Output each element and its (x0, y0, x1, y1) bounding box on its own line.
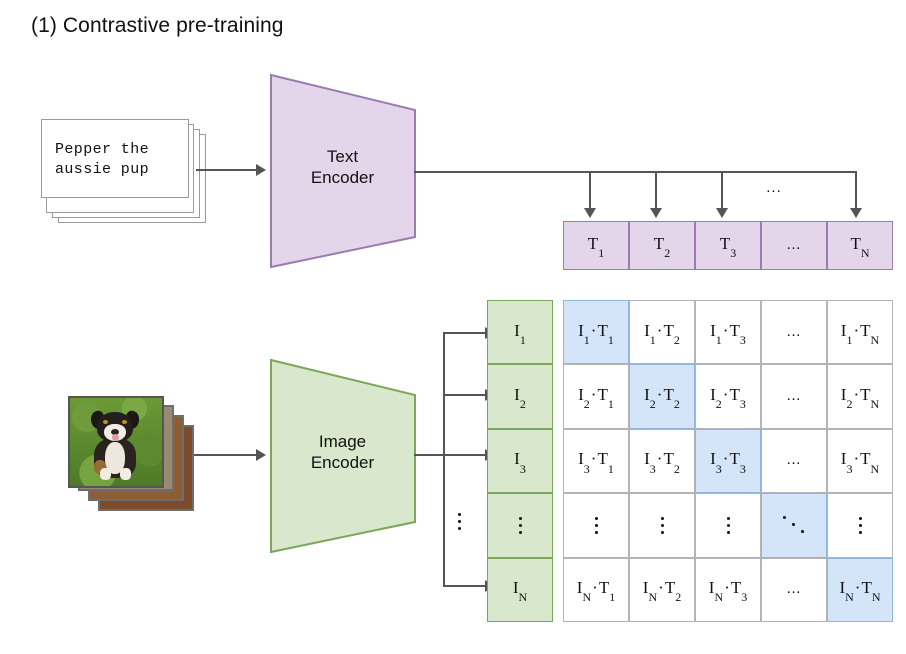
cell-label: I2 (514, 385, 526, 408)
image-embedding-cell-1[interactable]: I1 (487, 300, 553, 364)
matrix-cell-rN-cN[interactable]: IN·TN (827, 558, 893, 622)
image-encoder-block: Image Encoder (269, 357, 416, 555)
text-bus-drop-3 (721, 171, 723, 209)
image-embedding-cell-2[interactable]: I2 (487, 364, 553, 428)
image-encoder-label-line1: Image (269, 431, 416, 452)
image-embedding-cell-ellipsis[interactable] (487, 493, 553, 557)
diagram-canvas: (1) Contrastive pre-training Pepper the … (0, 0, 906, 654)
image-bus-stem (414, 454, 445, 456)
matrix-cell-r1-c2[interactable]: I1·T2 (629, 300, 695, 364)
image-embedding-cell-n[interactable]: IN (487, 558, 553, 622)
cell-label: I1·T2 (644, 321, 680, 344)
cell-label: I1·TN (841, 321, 879, 344)
matrix-cell-rvdots-c3[interactable] (695, 493, 761, 557)
matrix-cell-rvdots-c2[interactable] (629, 493, 695, 557)
cell-label: IN·TN (839, 578, 880, 601)
text-embedding-cell-n[interactable]: TN (827, 221, 893, 270)
matrix-cell-rvdots-cN[interactable] (827, 493, 893, 557)
cell-label: T3 (720, 234, 736, 257)
cell-label: I1 (514, 321, 526, 344)
cell-ellipsis: ... (787, 324, 801, 341)
arrow-image-to-image-encoder-line (194, 454, 258, 456)
matrix-cell-r3-c1[interactable]: I3·T1 (563, 429, 629, 493)
diagonal-ellipsis (781, 514, 807, 536)
text-embedding-cell-3[interactable]: T3 (695, 221, 761, 270)
matrix-cell-r3-c3[interactable]: I3·T3 (695, 429, 761, 493)
text-bus-trunk (414, 171, 857, 173)
text-bus-drop-n (855, 171, 857, 209)
cell-label: I2·T3 (710, 385, 746, 408)
matrix-cell-rN-c1[interactable]: IN·T1 (563, 558, 629, 622)
cell-label: I2·T2 (644, 385, 680, 408)
matrix-cell-r1-c...[interactable]: ... (761, 300, 827, 364)
vertical-ellipsis (657, 515, 667, 535)
image-bus-branch-2 (443, 394, 487, 396)
matrix-cell-rvdots-c1[interactable] (563, 493, 629, 557)
matrix-cell-r2-c3[interactable]: I2·T3 (695, 364, 761, 428)
text-bus-ellipsis: ... (754, 179, 794, 196)
cell-label: TN (850, 234, 869, 257)
matrix-cell-r1-c1[interactable]: I1·T1 (563, 300, 629, 364)
cell-ellipsis: ... (787, 237, 801, 254)
matrix-cell-rN-c2[interactable]: IN·T2 (629, 558, 695, 622)
text-encoder-label-line2: Encoder (269, 167, 416, 188)
text-encoder-block: Text Encoder (269, 72, 416, 270)
cell-label: T1 (588, 234, 604, 257)
page-title: (1) Contrastive pre-training (31, 14, 284, 38)
text-bus-arrow-n (850, 208, 862, 218)
vertical-ellipsis (515, 515, 525, 535)
cell-label: IN·T2 (643, 578, 681, 601)
image-bus-branch-n (443, 585, 487, 587)
text-embedding-cell-ellipsis[interactable]: ... (761, 221, 827, 270)
matrix-cell-r3-c...[interactable]: ... (761, 429, 827, 493)
dog-eye-left (103, 420, 108, 424)
arrow-caption-to-text-encoder-line (196, 169, 258, 171)
cell-ellipsis: ... (787, 581, 801, 598)
cell-label: I1·T3 (710, 321, 746, 344)
image-bus-branch-3 (443, 454, 487, 456)
text-bus-arrow-3 (716, 208, 728, 218)
image-encoder-label: Image Encoder (269, 431, 416, 473)
cell-label: I3·T3 (710, 449, 746, 472)
caption-line-1: Pepper the (55, 140, 187, 160)
text-encoder-label-line1: Text (269, 146, 416, 167)
text-embedding-cell-1[interactable]: T1 (563, 221, 629, 270)
arrow-caption-to-text-encoder-head (256, 164, 266, 176)
cell-label: IN (513, 578, 527, 601)
matrix-cell-rN-c...[interactable]: ... (761, 558, 827, 622)
text-embedding-cell-2[interactable]: T2 (629, 221, 695, 270)
vertical-ellipsis (723, 515, 733, 535)
cell-label: I2·TN (841, 385, 879, 408)
image-bus-ellipsis (453, 510, 465, 532)
image-encoder-label-line2: Encoder (269, 452, 416, 473)
dog-eye-right (122, 420, 127, 424)
text-encoder-label: Text Encoder (269, 146, 416, 188)
dog-tongue (112, 434, 119, 441)
text-bus-arrow-1 (584, 208, 596, 218)
matrix-cell-r3-c2[interactable]: I3·T2 (629, 429, 695, 493)
cell-label: I3 (514, 449, 526, 472)
matrix-cell-r2-c1[interactable]: I2·T1 (563, 364, 629, 428)
matrix-cell-r1-c3[interactable]: I1·T3 (695, 300, 761, 364)
image-card-front-dog-photo (68, 396, 164, 488)
cell-label: I2·T1 (578, 385, 614, 408)
image-bus-trunk (443, 333, 445, 586)
cell-ellipsis: ... (787, 452, 801, 469)
cell-label: I3·T1 (578, 449, 614, 472)
cell-ellipsis: ... (787, 388, 801, 405)
matrix-cell-rvdots-c...[interactable] (761, 493, 827, 557)
image-bus-branch-1 (443, 332, 487, 334)
matrix-cell-rN-c3[interactable]: IN·T3 (695, 558, 761, 622)
cell-label: I1·T1 (578, 321, 614, 344)
caption-line-2: aussie pup (55, 160, 187, 180)
cell-label: I3·T2 (644, 449, 680, 472)
caption-text: Pepper the aussie pup (55, 140, 187, 180)
cell-label: I3·TN (841, 449, 879, 472)
dog-paw-right (120, 468, 131, 480)
image-embedding-cell-3[interactable]: I3 (487, 429, 553, 493)
matrix-cell-r2-c2[interactable]: I2·T2 (629, 364, 695, 428)
vertical-ellipsis (855, 515, 865, 535)
matrix-cell-r2-cN[interactable]: I2·TN (827, 364, 893, 428)
matrix-cell-r3-cN[interactable]: I3·TN (827, 429, 893, 493)
cell-label: IN·T3 (709, 578, 747, 601)
dog-paw-left (100, 468, 111, 480)
matrix-cell-r2-c...[interactable]: ... (761, 364, 827, 428)
cell-label: IN·T1 (577, 578, 615, 601)
matrix-cell-r1-cN[interactable]: I1·TN (827, 300, 893, 364)
text-bus-arrow-2 (650, 208, 662, 218)
arrow-image-to-image-encoder-head (256, 449, 266, 461)
text-bus-drop-2 (655, 171, 657, 209)
text-bus-drop-1 (589, 171, 591, 209)
vertical-ellipsis (591, 515, 601, 535)
cell-label: T2 (654, 234, 670, 257)
